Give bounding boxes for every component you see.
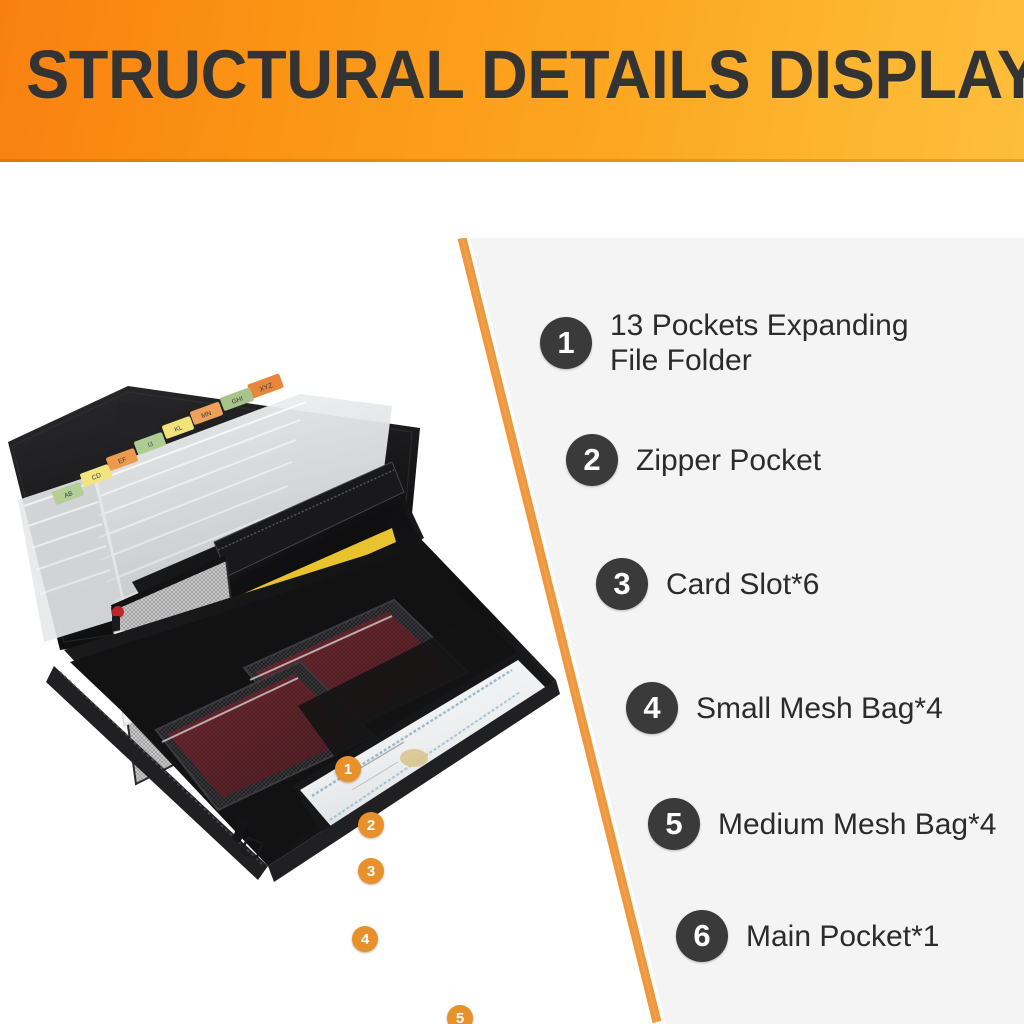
feature-item-1: 1 13 Pockets Expanding File Folder (540, 308, 909, 378)
feature-label-3: Card Slot*6 (666, 567, 819, 602)
feature-badge-4: 4 (626, 682, 678, 734)
feature-badge-5: 5 (648, 798, 700, 850)
feature-item-5: 5 Medium Mesh Bag*4 (648, 798, 996, 850)
feature-list: 1 13 Pockets Expanding File Folder 2 Zip… (0, 238, 1024, 1024)
feature-label-2: Zipper Pocket (636, 443, 821, 478)
infographic-canvas: STRUCTURAL DETAILS DISPLAY (0, 0, 1024, 1024)
feature-label-4: Small Mesh Bag*4 (696, 691, 943, 726)
feature-label-1: 13 Pockets Expanding File Folder (610, 308, 909, 378)
feature-label-6: Main Pocket*1 (746, 919, 939, 954)
feature-badge-2: 2 (566, 434, 618, 486)
page-title: STRUCTURAL DETAILS DISPLAY (26, 40, 947, 110)
feature-item-4: 4 Small Mesh Bag*4 (626, 682, 943, 734)
header-banner: STRUCTURAL DETAILS DISPLAY (0, 0, 1024, 162)
feature-label-5: Medium Mesh Bag*4 (718, 807, 996, 842)
feature-item-6: 6 Main Pocket*1 (676, 910, 939, 962)
feature-badge-6: 6 (676, 910, 728, 962)
feature-item-2: 2 Zipper Pocket (566, 434, 821, 486)
feature-badge-1: 1 (540, 317, 592, 369)
feature-badge-3: 3 (596, 558, 648, 610)
feature-item-3: 3 Card Slot*6 (596, 558, 819, 610)
